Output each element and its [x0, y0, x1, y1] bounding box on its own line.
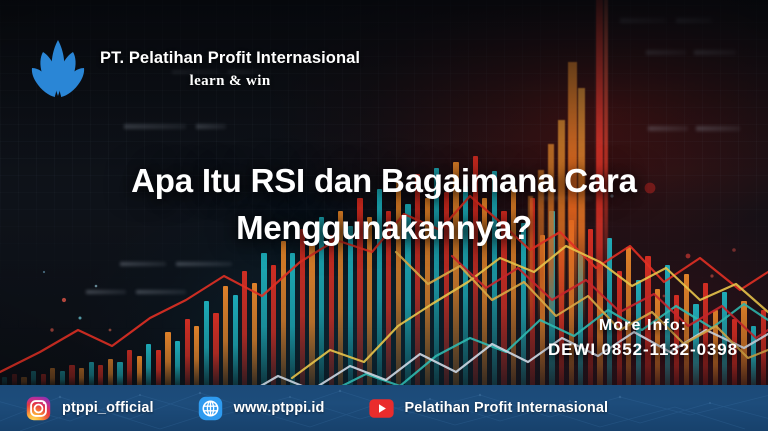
- footer-item-youtube[interactable]: Pelatihan Profit Internasional: [369, 396, 609, 421]
- youtube-icon[interactable]: [369, 396, 394, 421]
- footer-item-website[interactable]: www.ptppi.id: [198, 396, 325, 421]
- brand-text-block: PT. Pelatihan Profit Internasional learn…: [100, 49, 360, 90]
- brand-tagline: learn & win: [190, 73, 271, 90]
- globe-icon[interactable]: [198, 396, 223, 421]
- more-info-label: More Info:: [548, 317, 738, 335]
- footer-item-instagram[interactable]: ptppi_official: [26, 396, 154, 421]
- page-title: Apa Itu RSI dan Bagaimana Cara Menggunak…: [0, 158, 768, 252]
- headline-line-1: Apa Itu RSI dan Bagaimana Cara: [34, 158, 734, 205]
- footer-label-youtube: Pelatihan Profit Internasional: [405, 400, 609, 416]
- social-footer-bar: ptppi_official www.ptppi.id Pelatihan Pr…: [0, 385, 768, 431]
- footer-label-website: www.ptppi.id: [234, 400, 325, 416]
- footer-label-instagram: ptppi_official: [62, 400, 154, 416]
- company-name: PT. Pelatihan Profit Internasional: [100, 49, 360, 68]
- brand-header: PT. Pelatihan Profit Internasional learn…: [30, 38, 360, 100]
- more-info-block: More Info: DEWI 0852-1132-0398: [548, 317, 738, 360]
- more-info-contact[interactable]: DEWI 0852-1132-0398: [548, 340, 738, 360]
- promotional-banner: PT. Pelatihan Profit Internasional learn…: [0, 0, 768, 431]
- lotus-logo-icon: [30, 38, 86, 100]
- headline-line-2: Menggunakannya?: [34, 205, 734, 252]
- instagram-icon[interactable]: [26, 396, 51, 421]
- footer-items: ptppi_official www.ptppi.id Pelatihan Pr…: [0, 385, 768, 431]
